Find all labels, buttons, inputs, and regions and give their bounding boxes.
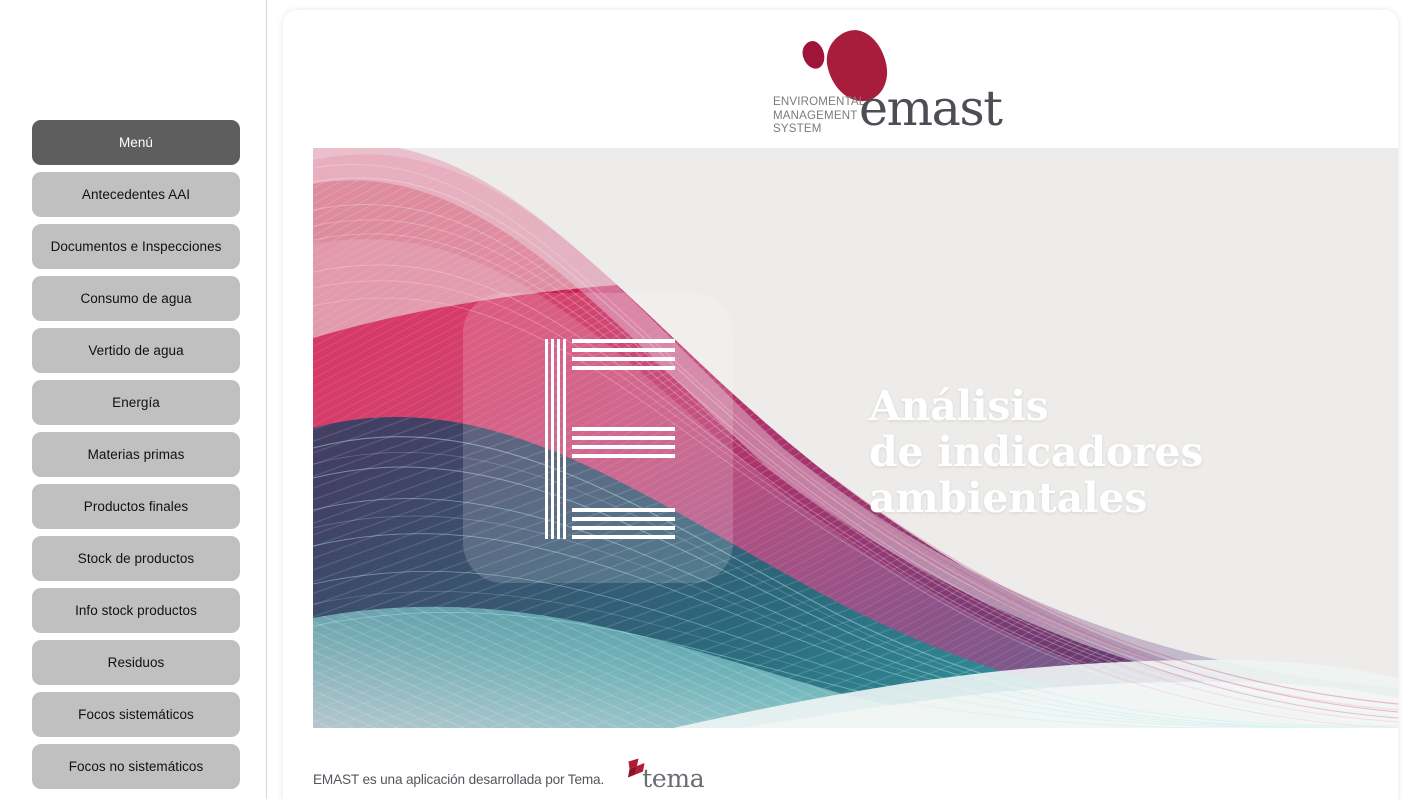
sidebar-menu-list: Menú Antecedentes AAI Documentos e Inspe… bbox=[0, 120, 266, 789]
sidebar-item-consumo-de-agua[interactable]: Consumo de agua bbox=[32, 276, 240, 321]
e-logo-arm-top bbox=[572, 339, 675, 370]
sidebar-item-documentos-e-inspecciones[interactable]: Documentos e Inspecciones bbox=[32, 224, 240, 269]
sidebar-item-residuos[interactable]: Residuos bbox=[32, 640, 240, 685]
hero-title: Análisis de indicadores ambientales bbox=[869, 383, 1203, 521]
e-logo-stem bbox=[545, 339, 566, 539]
sidebar-item-materias-primas[interactable]: Materias primas bbox=[32, 432, 240, 477]
e-logo-arm-bottom bbox=[572, 508, 675, 539]
e-logo-mark bbox=[463, 293, 733, 583]
tema-wordmark: tema bbox=[642, 766, 704, 791]
main-content-area: ENVIROMENTAL MANAGEMENT SYSTEM emast bbox=[267, 0, 1407, 799]
content-card: ENVIROMENTAL MANAGEMENT SYSTEM emast bbox=[283, 10, 1398, 799]
sidebar-item-productos-finales[interactable]: Productos finales bbox=[32, 484, 240, 529]
logo-blob-small-icon bbox=[800, 39, 828, 72]
e-logo-arm-middle bbox=[572, 427, 675, 458]
sidebar-item-menu[interactable]: Menú bbox=[32, 120, 240, 165]
footer-credit-text: EMAST es una aplicación desarrollada por… bbox=[313, 772, 604, 787]
logo-wordmark: emast bbox=[859, 84, 1002, 133]
sidebar-item-focos-sistematicos[interactable]: Focos sistemáticos bbox=[32, 692, 240, 737]
tema-logo[interactable]: tema bbox=[626, 759, 710, 799]
emast-logo: ENVIROMENTAL MANAGEMENT SYSTEM emast bbox=[760, 28, 985, 140]
emast-application: Menú Antecedentes AAI Documentos e Inspe… bbox=[0, 0, 1407, 799]
footer: EMAST es una aplicación desarrollada por… bbox=[313, 758, 710, 799]
sidebar-item-focos-no-sistematicos[interactable]: Focos no sistemáticos bbox=[32, 744, 240, 789]
e-logo-glyph-icon bbox=[545, 339, 675, 539]
sidebar-item-antecedentes-aai[interactable]: Antecedentes AAI bbox=[32, 172, 240, 217]
hero-banner: Análisis de indicadores ambientales bbox=[313, 148, 1398, 728]
sidebar-item-vertido-de-agua[interactable]: Vertido de agua bbox=[32, 328, 240, 373]
sidebar-item-stock-de-productos[interactable]: Stock de productos bbox=[32, 536, 240, 581]
sidebar-item-info-stock-productos[interactable]: Info stock productos bbox=[32, 588, 240, 633]
sidebar-navigation: Menú Antecedentes AAI Documentos e Inspe… bbox=[0, 0, 267, 799]
sidebar-item-energia[interactable]: Energía bbox=[32, 380, 240, 425]
